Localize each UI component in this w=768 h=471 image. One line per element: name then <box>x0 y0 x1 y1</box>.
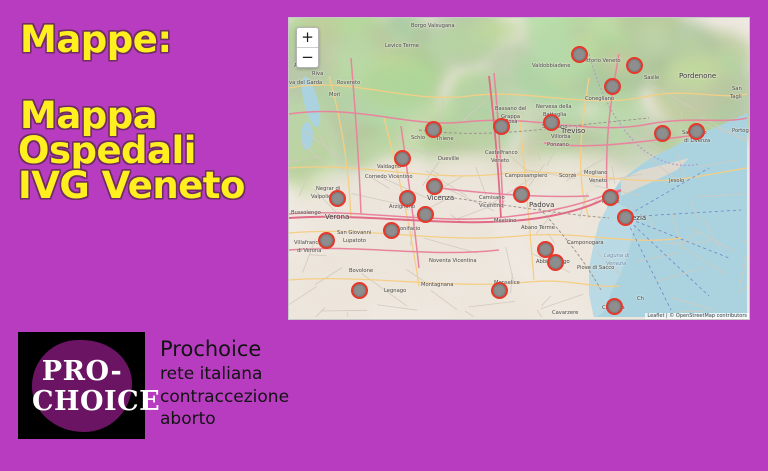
map-city-label: Borgo Valsugana <box>411 23 455 29</box>
map-city-label: Piove di Sacco <box>577 265 614 271</box>
map-hospital-marker[interactable] <box>426 178 443 195</box>
page-title-heading: Mappe: <box>20 18 172 61</box>
map-city-label: Tagli <box>730 94 742 100</box>
map-city-label: Camponogara <box>567 240 604 246</box>
tagline-line-2: contraccezione <box>160 386 460 409</box>
map-widget[interactable]: Borgo ValsuganaLevico TermeRivaArcova de… <box>288 17 750 320</box>
map-city-label: Legnago <box>384 288 406 294</box>
footer-text-block: Prochoice rete italiana contraccezione a… <box>160 336 460 431</box>
map-city-label: Cornedo Vicentino <box>365 174 413 180</box>
map-hospital-marker[interactable] <box>606 298 623 315</box>
map-city-label: Abano Terme <box>521 225 555 231</box>
logo-word-choice: CHOICE <box>32 388 132 415</box>
map-city-label: Dueville <box>438 156 459 162</box>
map-hospital-marker[interactable] <box>617 209 634 226</box>
prochoice-logo: PRO- CHOICE <box>18 332 145 439</box>
map-city-label: Vicentino <box>479 203 503 209</box>
map-city-label: Valdobbiadene <box>532 63 570 69</box>
page-title-line-3: IVG Veneto <box>18 164 245 207</box>
map-city-label: Laguna di <box>604 253 630 259</box>
map-hospital-marker[interactable] <box>394 150 411 167</box>
map-city-label: Thiene <box>436 136 454 142</box>
map-city-label: Veneto <box>491 158 509 164</box>
map-city-label: Bassano del <box>495 106 526 112</box>
map-city-label: Mestrino <box>494 218 516 224</box>
map-city-label: Castelfranco <box>485 150 518 156</box>
title-panel: Mappe: Mappa Ospedali IVG Veneto <box>0 0 288 320</box>
logo-blob-shape: PRO- CHOICE <box>32 340 132 432</box>
map-city-label: Vicenza <box>427 194 454 202</box>
zoom-in-button[interactable]: + <box>297 28 318 48</box>
map-city-label: Portogruaro <box>732 128 749 134</box>
map-hospital-marker[interactable] <box>547 254 564 271</box>
map-city-label: di Verona <box>297 248 321 254</box>
map-city-label: Jesolo <box>669 178 684 184</box>
map-city-label: San <box>732 86 742 92</box>
map-city-label: Camisano <box>479 195 505 201</box>
map-hospital-marker[interactable] <box>493 118 510 135</box>
map-city-label: Scorzè <box>559 173 576 179</box>
map-hospital-marker[interactable] <box>383 222 400 239</box>
map-city-label: Rovereto <box>337 80 360 86</box>
map-city-label: Bussolengo <box>291 210 321 216</box>
map-city-label: Levico Terme <box>385 43 419 49</box>
map-hospital-marker[interactable] <box>626 57 643 74</box>
map-city-label: Cavarzere <box>552 310 578 316</box>
map-city-label: Nervesa della <box>536 104 572 110</box>
map-hospital-marker[interactable] <box>491 282 508 299</box>
organization-name: Prochoice <box>160 336 460 363</box>
map-city-label: va del Garda <box>289 80 322 86</box>
map-hospital-marker[interactable] <box>417 206 434 223</box>
map-city-label: Schio <box>411 135 425 141</box>
map-hospital-marker[interactable] <box>654 125 671 142</box>
map-city-label: Treviso <box>561 127 585 135</box>
map-hospital-marker[interactable] <box>399 190 416 207</box>
map-city-label: Noventa Vicentina <box>429 258 477 264</box>
map-city-label: Mori <box>329 92 340 98</box>
map-hospital-marker[interactable] <box>602 189 619 206</box>
map-city-label: San Giovanni <box>337 230 371 236</box>
map-hospital-marker[interactable] <box>571 46 588 63</box>
map-city-label: Pordenone <box>679 72 716 80</box>
map-city-label: Mogliano <box>584 170 607 176</box>
map-hospital-marker[interactable] <box>425 121 442 138</box>
map-hospital-marker[interactable] <box>604 78 621 95</box>
map-hospital-marker[interactable] <box>329 190 346 207</box>
map-hospital-marker[interactable] <box>543 114 560 131</box>
map-hospital-marker[interactable] <box>351 282 368 299</box>
map-city-label: Ch <box>637 296 644 302</box>
map-zoom-control[interactable]: + − <box>296 27 319 68</box>
zoom-out-button[interactable]: − <box>297 48 318 67</box>
tagline-line-1: rete italiana <box>160 363 460 386</box>
map-city-label: Sasile <box>644 75 659 81</box>
map-attribution[interactable]: Leaflet | © OpenStreetMap contributors <box>645 313 749 319</box>
logo-word-pro: PRO- <box>32 358 132 385</box>
map-city-label: Vittorio Veneto <box>582 58 621 64</box>
map-canvas[interactable]: Borgo ValsuganaLevico TermeRivaArcova de… <box>289 18 749 319</box>
map-city-label: Conegliano <box>585 96 614 102</box>
map-city-label: Bovolone <box>349 268 373 274</box>
map-hospital-marker[interactable] <box>513 186 530 203</box>
map-city-label: Padova <box>529 201 554 209</box>
map-city-label: Verona <box>325 213 349 221</box>
map-hospital-marker[interactable] <box>688 123 705 140</box>
map-city-label: Montagnana <box>421 282 453 288</box>
map-city-label: Riva <box>312 71 323 77</box>
tagline-line-3: aborto <box>160 408 460 431</box>
map-hospital-marker[interactable] <box>318 232 335 249</box>
map-city-label: Camposampiero <box>505 173 547 179</box>
map-city-label: Lupatoto <box>343 238 366 244</box>
map-city-label: Veneto <box>589 178 607 184</box>
map-city-label: Ponzano <box>547 142 569 148</box>
